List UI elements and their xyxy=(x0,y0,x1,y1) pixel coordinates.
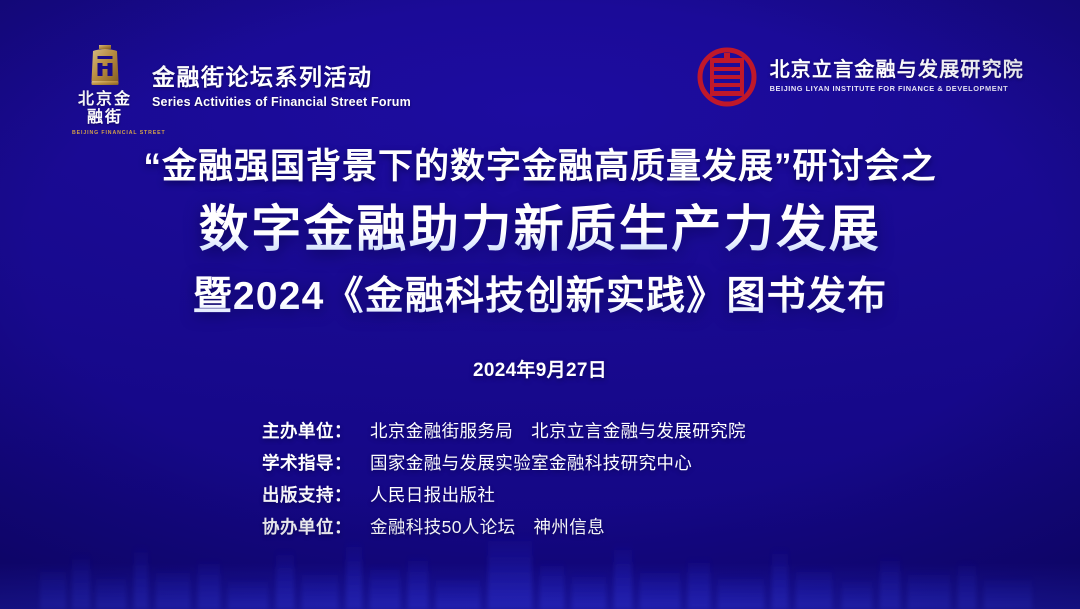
bfs-org-name-en: BEIJING FINANCIAL STREET xyxy=(72,130,138,136)
forum-series-title-en: Series Activities of Financial Street Fo… xyxy=(152,95,411,109)
credit-value: 金融科技50人论坛 神州信息 xyxy=(370,514,605,539)
credits-block: 主办单位： 北京金融街服务局 北京立言金融与发展研究院 学术指导： 国家金融与发… xyxy=(0,418,1080,539)
event-main-title: 数字金融助力新质生产力发展 xyxy=(0,199,1080,260)
title-block: “金融强国背景下的数字金融高质量发展”研讨会之 数字金融助力新质生产力发展 暨2… xyxy=(0,146,1080,382)
credit-row: 学术指导： 国家金融与发展实验室金融科技研究中心 xyxy=(262,450,818,475)
liyan-org-name-en: BEIJING LIYAN INSTITUTE FOR FINANCE & DE… xyxy=(770,84,1024,93)
credit-label: 学术指导： xyxy=(262,450,370,475)
credit-value: 国家金融与发展实验室金融科技研究中心 xyxy=(370,450,692,475)
credit-label: 主办单位： xyxy=(262,418,370,443)
liyan-text-block: 北京立言金融与发展研究院 BEIJING LIYAN INSTITUTE FOR… xyxy=(770,59,1024,95)
credit-row: 主办单位： 北京金融街服务局 北京立言金融与发展研究院 xyxy=(262,418,818,443)
liyan-institute-logo: 北京立言金融与发展研究院 BEIJING LIYAN INSTITUTE FOR… xyxy=(696,46,1024,108)
forum-series-text: 金融街论坛系列活动 Series Activities of Financial… xyxy=(152,65,411,112)
event-subtitle: 暨2024《金融科技创新实践》图书发布 xyxy=(0,274,1080,321)
bfs-org-name-cn: 北京金融街 xyxy=(72,91,138,128)
financial-street-logo: 北京金融街 BEIJING FINANCIAL STREET 金融街论坛系列活动… xyxy=(72,42,411,136)
banner-header: 北京金融街 BEIJING FINANCIAL STREET 金融街论坛系列活动… xyxy=(0,0,1080,140)
credit-label: 出版支持： xyxy=(262,482,370,507)
forum-series-title-cn: 金融街论坛系列活动 xyxy=(152,65,411,90)
credit-row: 协办单位： 金融科技50人论坛 神州信息 xyxy=(262,514,818,539)
horizon-glow xyxy=(0,563,1080,609)
event-date: 2024年9月27日 xyxy=(0,355,1080,382)
credit-row: 出版支持： 人民日报出版社 xyxy=(262,482,818,507)
credit-value: 人民日报出版社 xyxy=(370,482,495,507)
credit-value: 北京金融街服务局 北京立言金融与发展研究院 xyxy=(370,418,746,443)
liyan-seal-icon xyxy=(696,46,758,108)
event-supertitle: “金融强国背景下的数字金融高质量发展”研讨会之 xyxy=(0,146,1080,187)
bfs-emblem-icon xyxy=(85,42,125,88)
event-banner: 北京金融街 BEIJING FINANCIAL STREET 金融街论坛系列活动… xyxy=(0,0,1080,609)
liyan-org-name-cn: 北京立言金融与发展研究院 xyxy=(770,59,1024,81)
bfs-logo-mark: 北京金融街 BEIJING FINANCIAL STREET xyxy=(72,42,138,136)
credit-label: 协办单位： xyxy=(262,514,370,539)
